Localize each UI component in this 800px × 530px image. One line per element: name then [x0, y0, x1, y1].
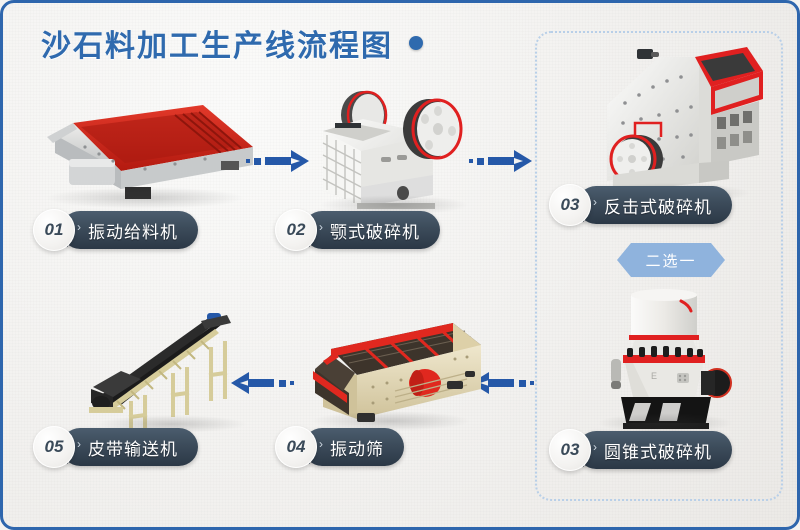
- step-pill-03-cone[interactable]: › 圆锥式破碎机: [577, 431, 732, 469]
- step-pill-05[interactable]: › 皮带输送机: [61, 428, 198, 466]
- arrow-jaw-to-crusher: [469, 149, 532, 173]
- chevron-right-icon: ›: [319, 438, 323, 450]
- jaw-crusher: [305, 75, 485, 213]
- svg-text:E: E: [651, 371, 657, 381]
- page-title: 沙石料加工生产线流程图: [41, 21, 423, 65]
- step-number-03-impact: 03: [549, 184, 591, 226]
- page-title-text: 沙石料加工生产线流程图: [41, 21, 393, 65]
- chevron-right-icon: ›: [593, 441, 597, 453]
- step-label-03-cone[interactable]: 03 › 圆锥式破碎机: [549, 431, 732, 469]
- vibrating-feeder: [25, 91, 265, 209]
- arrow-feeder-to-jaw: [246, 149, 309, 173]
- step-name-02: 颚式破碎机: [330, 218, 420, 243]
- chevron-right-icon: ›: [319, 221, 323, 233]
- step-pill-02[interactable]: › 颚式破碎机: [303, 211, 440, 249]
- cone-crusher: E: [589, 285, 749, 433]
- step-number-05: 05: [33, 426, 75, 468]
- belt-conveyor: [87, 303, 287, 433]
- title-dot-icon: [409, 36, 423, 50]
- step-label-01[interactable]: 01 › 振动给料机: [33, 211, 198, 249]
- step-number-01: 01: [33, 209, 75, 251]
- step-name-01: 振动给料机: [88, 218, 178, 243]
- step-pill-04[interactable]: › 振动筛: [303, 428, 404, 466]
- step-name-04: 振动筛: [330, 435, 384, 460]
- step-label-04[interactable]: 04 › 振动筛: [275, 428, 404, 466]
- step-label-05[interactable]: 05 › 皮带输送机: [33, 428, 198, 466]
- choose-one-badge: 二选一: [617, 243, 725, 277]
- chevron-right-icon: ›: [77, 438, 81, 450]
- step-label-03-impact[interactable]: 03 › 反击式破碎机: [549, 186, 732, 224]
- chevron-right-icon: ›: [77, 221, 81, 233]
- step-name-03-impact: 反击式破碎机: [604, 193, 712, 218]
- flowchart-page: 沙石料加工生产线流程图 二选一: [0, 0, 800, 530]
- step-name-03-cone: 圆锥式破碎机: [604, 438, 712, 463]
- impact-crusher: [577, 43, 767, 203]
- step-number-04: 04: [275, 426, 317, 468]
- step-label-02[interactable]: 02 › 颚式破碎机: [275, 211, 440, 249]
- step-pill-03-impact[interactable]: › 反击式破碎机: [577, 186, 732, 224]
- chevron-right-icon: ›: [593, 196, 597, 208]
- vibrating-screen: [295, 311, 491, 433]
- step-name-05: 皮带输送机: [88, 435, 178, 460]
- step-number-03-cone: 03: [549, 429, 591, 471]
- step-number-02: 02: [275, 209, 317, 251]
- step-pill-01[interactable]: › 振动给料机: [61, 211, 198, 249]
